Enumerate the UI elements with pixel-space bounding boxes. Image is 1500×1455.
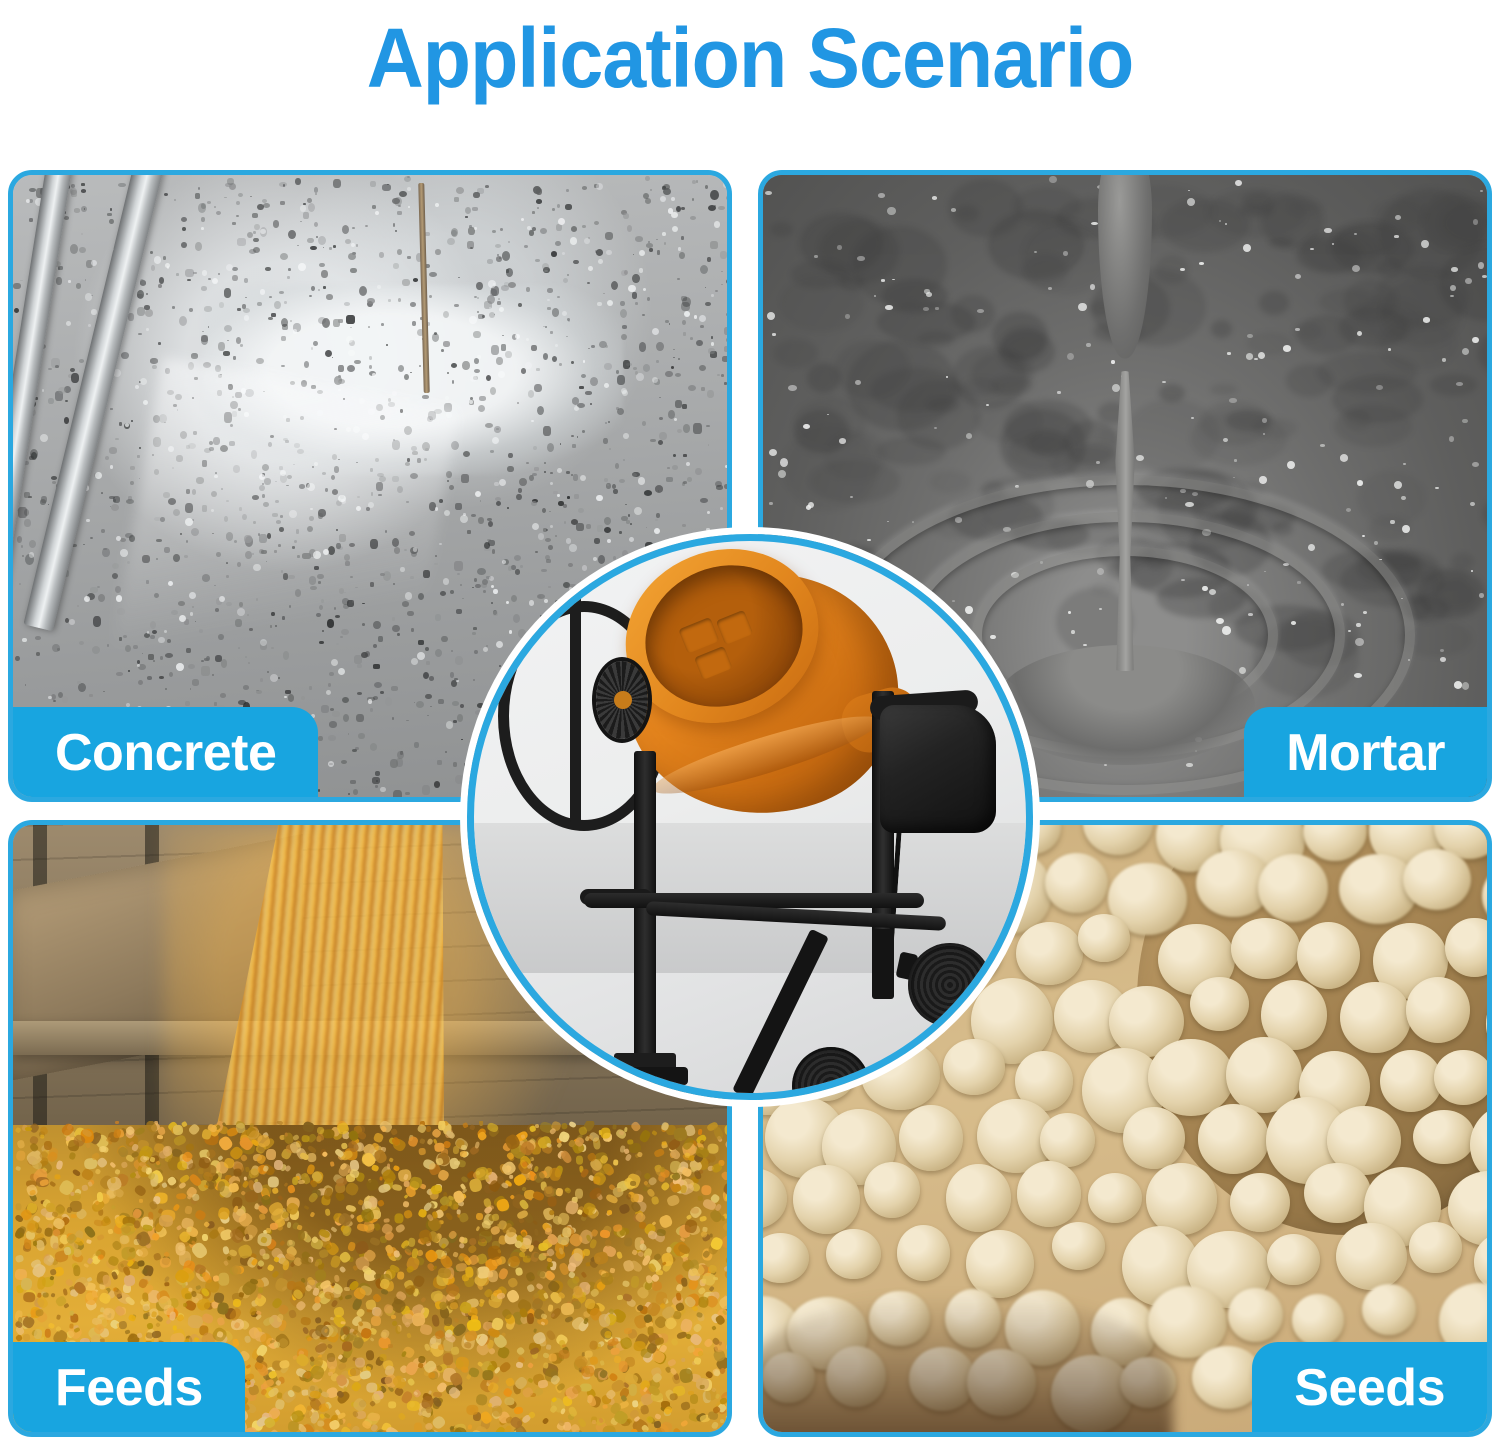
tile-label-mortar: Mortar — [1244, 707, 1492, 802]
tile-label-seeds: Seeds — [1252, 1342, 1492, 1437]
motor-housing — [880, 705, 996, 833]
transport-wheel — [792, 1047, 870, 1100]
frame-foot-plate — [602, 1067, 688, 1085]
product-circle-inset[interactable] — [467, 534, 1033, 1100]
transport-wheel — [908, 943, 992, 1027]
gear-hub — [614, 691, 632, 709]
frame-leg-right-lower — [872, 929, 894, 999]
tile-label-concrete: Concrete — [8, 707, 318, 802]
concrete-sheen — [107, 357, 458, 724]
frame-crossbar — [584, 893, 924, 908]
page-title: Application Scenario — [45, 4, 1455, 112]
hand-wheel-spoke — [570, 593, 581, 823]
tile-label-feeds: Feeds — [8, 1342, 245, 1437]
frame-leg-left — [634, 751, 656, 1081]
